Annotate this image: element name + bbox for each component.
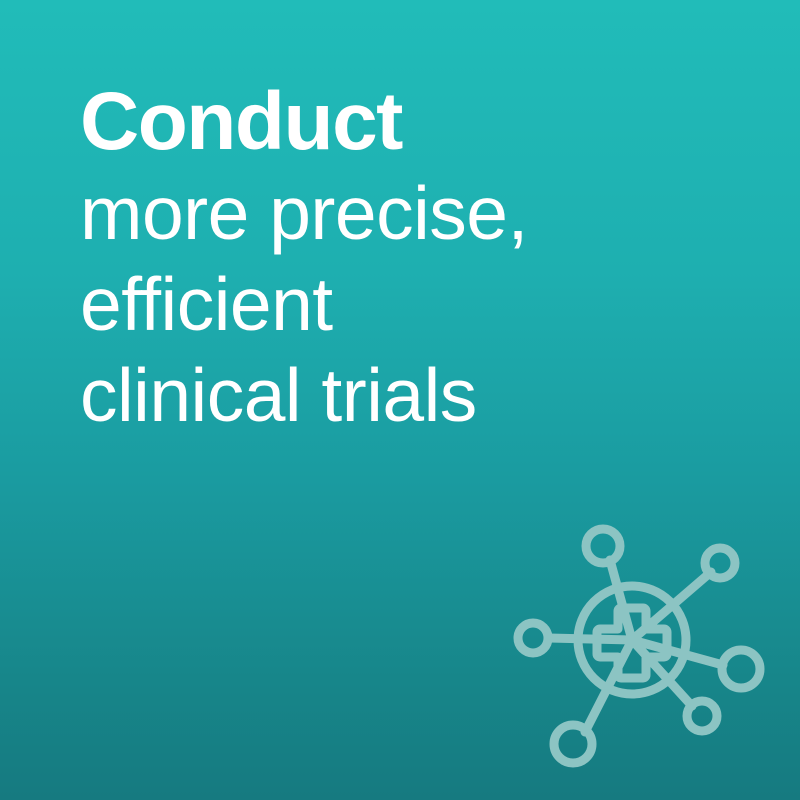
headline-block: Conduct more precise, efficient clinical… — [80, 76, 730, 441]
headline-line-2: more precise, — [80, 168, 730, 259]
promo-card: Conduct more precise, efficient clinical… — [0, 0, 800, 800]
node-bottom-right — [687, 701, 717, 731]
headline-line-1: Conduct — [80, 76, 730, 168]
node-bottom-left — [554, 725, 592, 763]
node-top-right — [705, 548, 735, 578]
headline-line-4: clinical trials — [80, 350, 730, 441]
spoke-left — [549, 638, 632, 640]
medical-network-icon — [500, 500, 790, 790]
node-right — [722, 650, 760, 688]
node-left — [518, 623, 548, 653]
node-top-left — [586, 529, 620, 563]
headline-line-3: efficient — [80, 259, 730, 350]
